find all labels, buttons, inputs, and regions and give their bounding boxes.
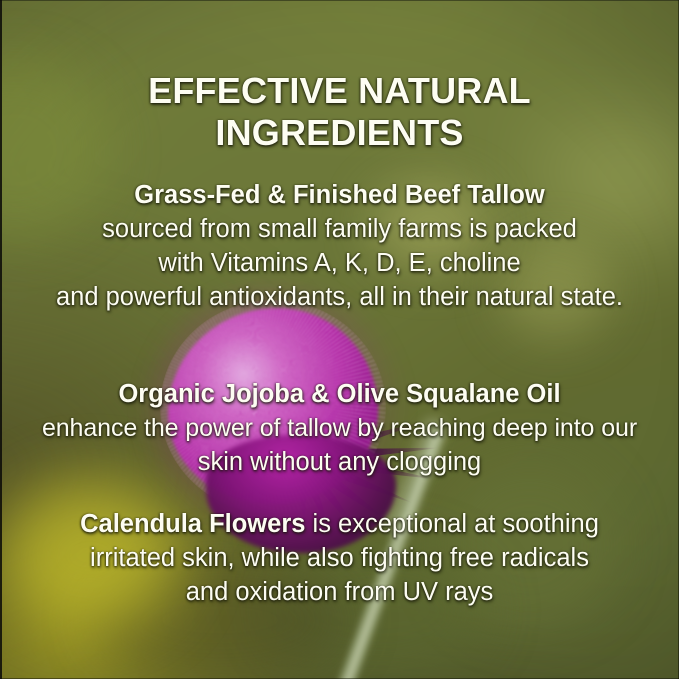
ingredient-block-jojoba-squalane: Organic Jojoba & Olive Squalane Oil enha… <box>0 377 679 479</box>
ingredient-block-calendula: Calendula Flowers is exceptional at soot… <box>0 507 679 609</box>
title-line-2: INGREDIENTS <box>0 112 679 154</box>
ingredient-body-line: with Vitamins A, K, D, E, choline <box>0 246 679 280</box>
ingredient-block-beef-tallow: Grass-Fed & Finished Beef Tallow sourced… <box>0 178 679 314</box>
ingredient-heading-calendula-rest: is exceptional at soothing <box>305 510 598 538</box>
ingredient-heading-beef-tallow: Grass-Fed & Finished Beef Tallow <box>0 178 679 212</box>
ingredient-heading-calendula: Calendula Flowers is exceptional at soot… <box>0 507 679 541</box>
ingredient-body-line: sourced from small family farms is packe… <box>0 212 679 246</box>
ingredient-body-line: irritated skin, while also fighting free… <box>0 541 679 575</box>
ingredients-poster: EFFECTIVE NATURAL INGREDIENTS Grass-Fed … <box>0 0 679 679</box>
ingredient-heading-calendula-bold: Calendula Flowers <box>80 510 305 538</box>
ingredient-heading-jojoba-squalane: Organic Jojoba & Olive Squalane Oil <box>0 377 679 411</box>
ingredient-body-line: and oxidation from UV rays <box>0 575 679 609</box>
ingredient-body-line: enhance the power of tallow by reaching … <box>0 411 679 445</box>
page-title: EFFECTIVE NATURAL INGREDIENTS <box>0 70 679 154</box>
ingredient-body-line: and powerful antioxidants, all in their … <box>0 280 679 314</box>
ingredient-body-line: skin without any clogging <box>0 445 679 479</box>
poster-text: EFFECTIVE NATURAL INGREDIENTS Grass-Fed … <box>0 0 679 679</box>
title-line-1: EFFECTIVE NATURAL <box>0 70 679 112</box>
